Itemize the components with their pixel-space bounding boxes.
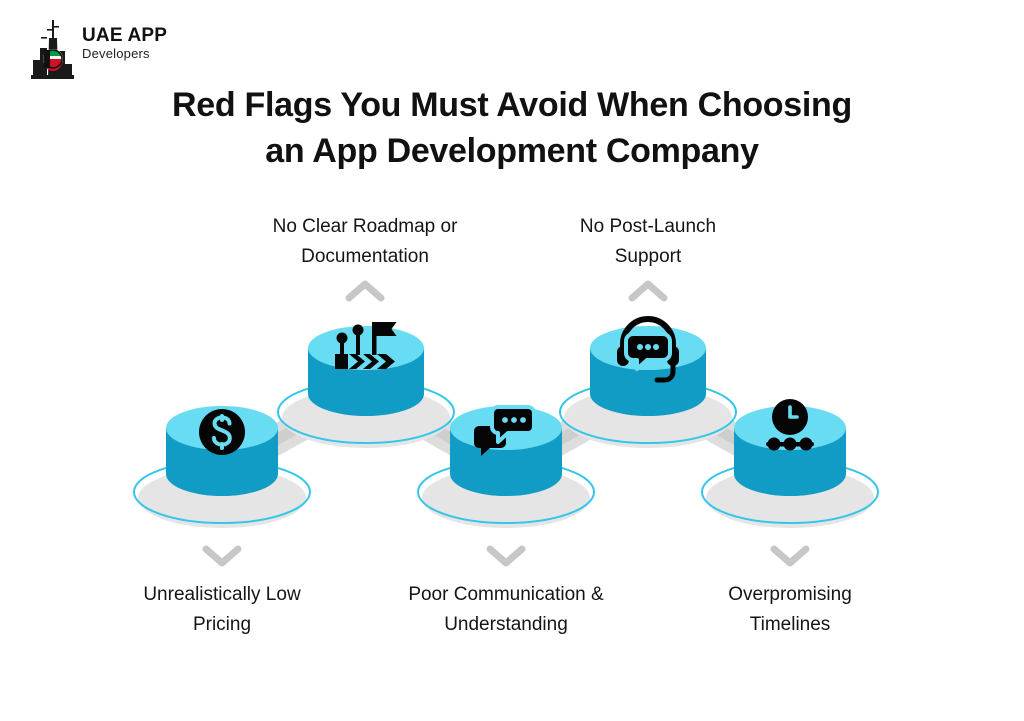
dollar-coin-icon [199, 409, 245, 455]
step-label-3: Poor Communication & Understanding [376, 580, 636, 640]
step-label-2-line-1: No Clear Roadmap or [235, 212, 495, 242]
step-label-2: No Clear Roadmap or Documentation [235, 212, 495, 272]
step-label-4: No Post-Launch Support [528, 212, 768, 272]
step-label-4-line-2: Support [528, 242, 768, 272]
step-label-3-line-1: Poor Communication & [376, 580, 636, 610]
step-label-3-line-2: Understanding [376, 610, 636, 640]
step-label-5-line-1: Overpromising [675, 580, 905, 610]
chevron-down-icon-1 [206, 549, 238, 563]
step-label-2-line-2: Documentation [235, 242, 495, 272]
chevron-up-icon-4 [632, 284, 664, 298]
step-node-2[interactable] [278, 322, 454, 448]
step-label-1: Unrealistically Low Pricing [97, 580, 347, 640]
chevron-down-icon-3 [490, 549, 522, 563]
chevron-up-icon-2 [349, 284, 381, 298]
step-node-4[interactable] [560, 319, 736, 448]
chevron-down-icon-5 [774, 549, 806, 563]
step-label-5: Overpromising Timelines [675, 580, 905, 640]
step-label-4-line-1: No Post-Launch [528, 212, 768, 242]
cylinder-top [308, 326, 424, 370]
step-label-1-line-2: Pricing [97, 610, 347, 640]
step-label-5-line-2: Timelines [675, 610, 905, 640]
step-label-1-line-1: Unrealistically Low [97, 580, 347, 610]
